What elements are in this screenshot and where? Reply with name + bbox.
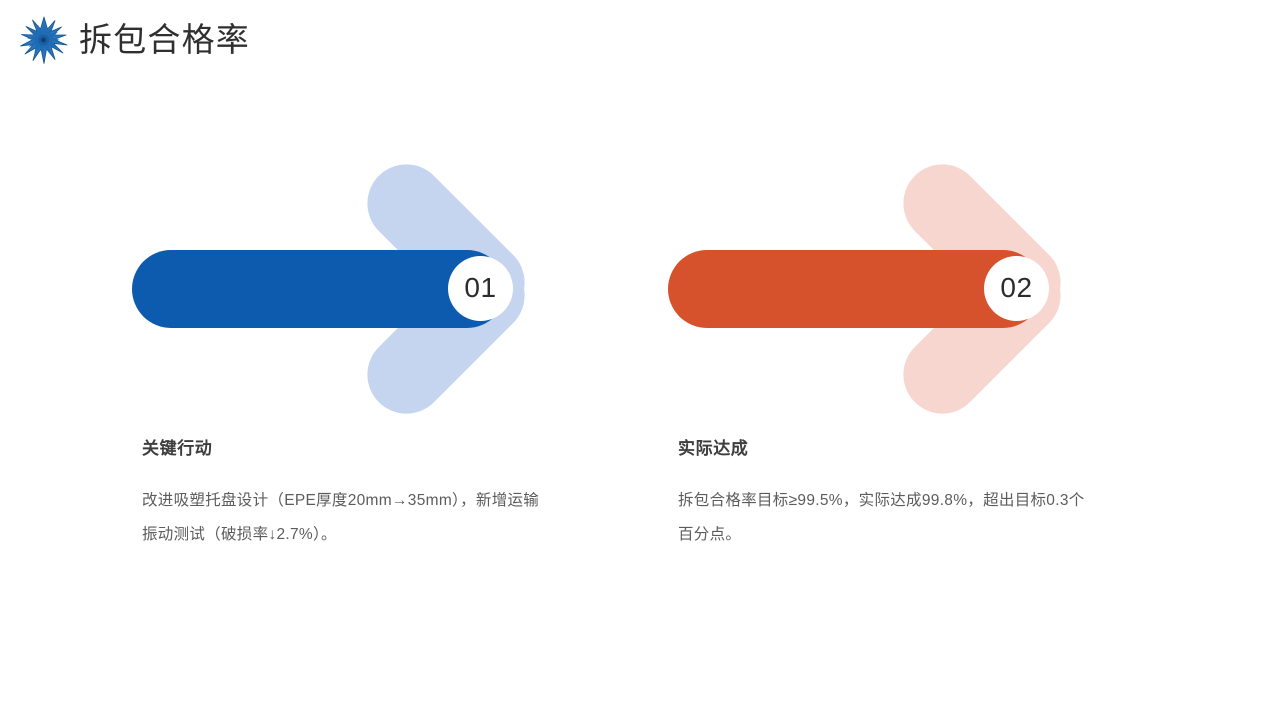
number-badge-2: 02 (984, 256, 1049, 321)
column-body-2: 拆包合格率目标≥99.5%，实际达成99.8%，超出目标0.3个百分点。 (678, 484, 1093, 552)
arrow-graphic-2: 02 (651, 168, 1121, 410)
number-badge-label-2: 02 (1000, 274, 1032, 302)
starburst-icon (19, 16, 69, 66)
number-badge-label-1: 01 (464, 274, 496, 302)
arrow-graphic-1: 01 (115, 168, 585, 410)
number-badge-1: 01 (448, 256, 513, 321)
content-column-1: 关键行动 改进吸塑托盘设计（EPE厚度20mm→35mm），新增运输振动测试（破… (142, 436, 552, 552)
column-heading-2: 实际达成 (678, 436, 1093, 462)
content-column-2: 实际达成 拆包合格率目标≥99.5%，实际达成99.8%，超出目标0.3个百分点… (678, 436, 1093, 552)
page-title: 拆包合格率 (79, 17, 250, 63)
slide-canvas: 拆包合格率 01 02 关键行动 改进吸塑托盘设计（EPE厚度20mm→35mm… (0, 0, 1280, 720)
column-heading-1: 关键行动 (142, 436, 552, 462)
column-body-1: 改进吸塑托盘设计（EPE厚度20mm→35mm），新增运输振动测试（破损率↓2.… (142, 484, 552, 552)
slide-header: 拆包合格率 (0, 0, 1280, 92)
